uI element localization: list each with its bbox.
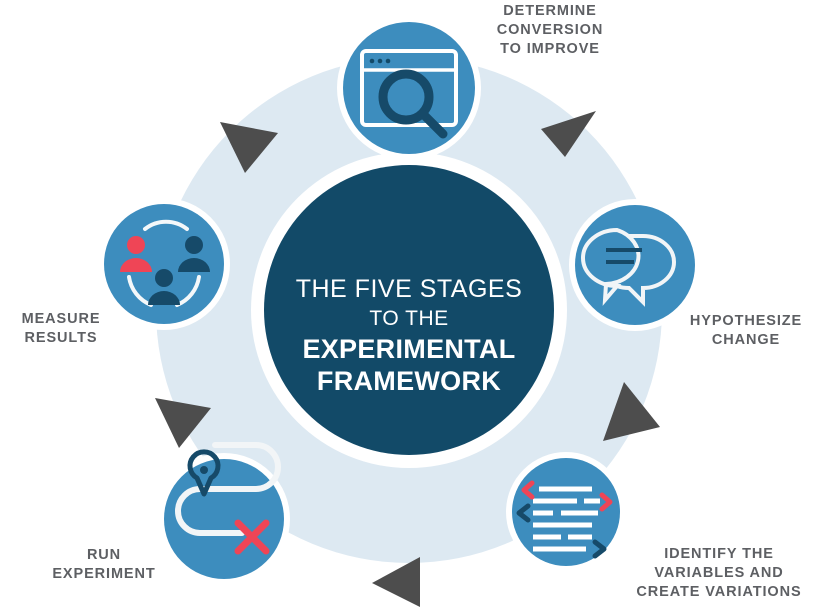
stage-node-measure-results[interactable]: [98, 198, 230, 330]
stage-label-identify-variables: IDENTIFY THE VARIABLES AND CREATE VARIAT…: [618, 545, 820, 602]
stage-label-determine-conversion: DETERMINE CONVERSION TO IMPROVE: [455, 2, 645, 59]
hub-title-line-4: FRAMEWORK: [317, 366, 501, 396]
hub-title-line-2: TO THE: [369, 307, 448, 330]
stage-label-measure-results: MEASURE RESULTS: [6, 310, 116, 348]
hub-title-block: THE FIVE STAGES TO THE EXPERIMENTAL FRAM…: [296, 275, 523, 396]
stage-label-hypothesize-change: HYPOTHESIZE CHANGE: [672, 312, 820, 350]
hub-title-line-3: EXPERIMENTAL: [302, 334, 515, 364]
arrow-bottom: [372, 557, 420, 607]
diagram-canvas: THE FIVE STAGES TO THE EXPERIMENTAL FRAM…: [0, 0, 820, 607]
stage-node-identify-variables[interactable]: [506, 452, 626, 572]
hub-title-line-1: THE FIVE STAGES: [296, 275, 523, 303]
stage-label-run-experiment: RUN EXPERIMENT: [28, 546, 180, 584]
experimental-framework-diagram: THE FIVE STAGES TO THE EXPERIMENTAL FRAM…: [0, 0, 820, 607]
